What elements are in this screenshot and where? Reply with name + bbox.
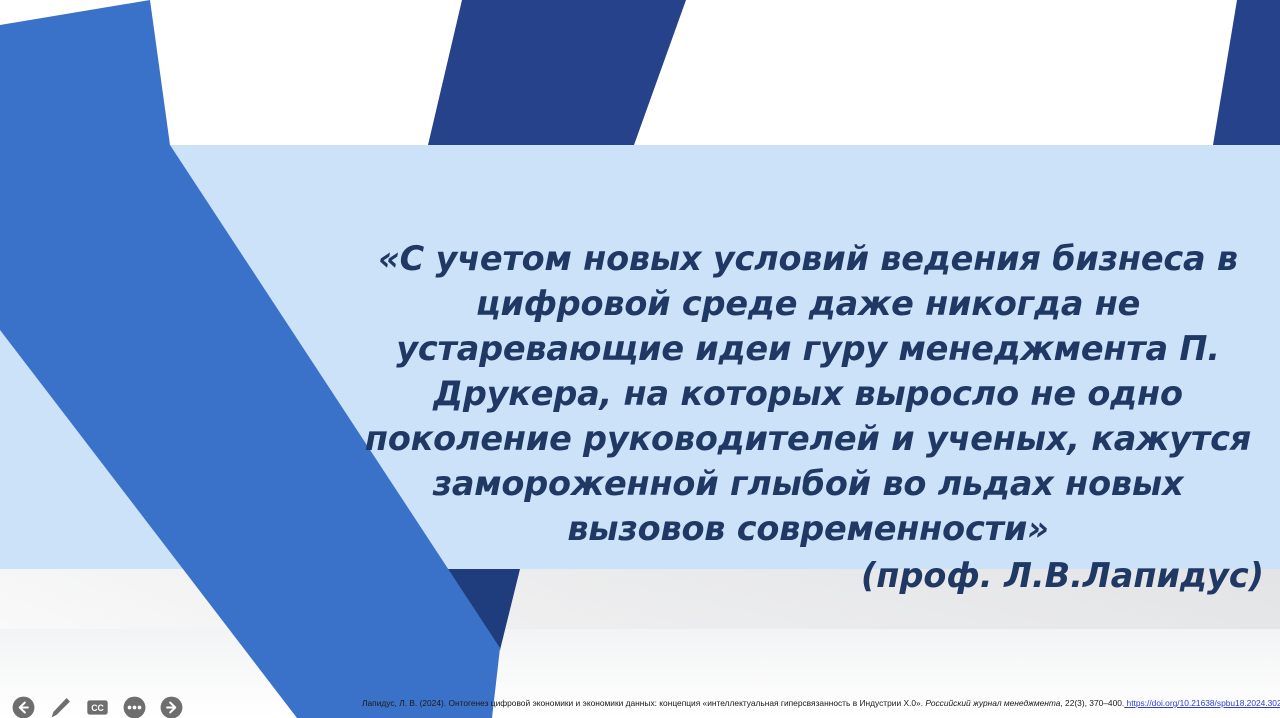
citation-issue-pages: (3), 370–400. [1074,698,1124,708]
more-options-button[interactable] [121,694,147,718]
quote-attribution: (проф. Л.В.Лапидус) [352,553,1264,598]
citation-journal: Российский журнал менеджмента [925,698,1060,708]
forward-arrow-icon [159,695,184,718]
closed-captions-button[interactable]: CC [84,694,110,718]
svg-text:CC: CC [91,703,104,713]
pen-icon [48,695,73,718]
citation-part2: , 22 [1060,698,1074,708]
previous-slide-button[interactable] [10,694,36,718]
next-slide-button[interactable] [158,694,184,718]
annotate-pen-button[interactable] [47,694,73,718]
citation-part1: Лапидус, Л. В. (2024). Онтогенез цифрово… [362,698,925,708]
cc-icon: CC [85,695,110,718]
presentation-slide: «С учетом новых условий ведения бизнеса … [0,0,1280,718]
player-toolbar[interactable]: CC [10,690,184,718]
quote-text: «С учетом новых условий ведения бизнеса … [352,236,1264,551]
back-arrow-icon [11,695,36,718]
quote-block: «С учетом новых условий ведения бизнеса … [352,236,1264,598]
more-options-icon [122,695,147,718]
citation-footnote: Лапидус, Л. В. (2024). Онтогенез цифрово… [362,698,1280,709]
citation-doi-link[interactable]: https://doi.org/10.21638/spbu18.2024.302 [1124,698,1280,708]
